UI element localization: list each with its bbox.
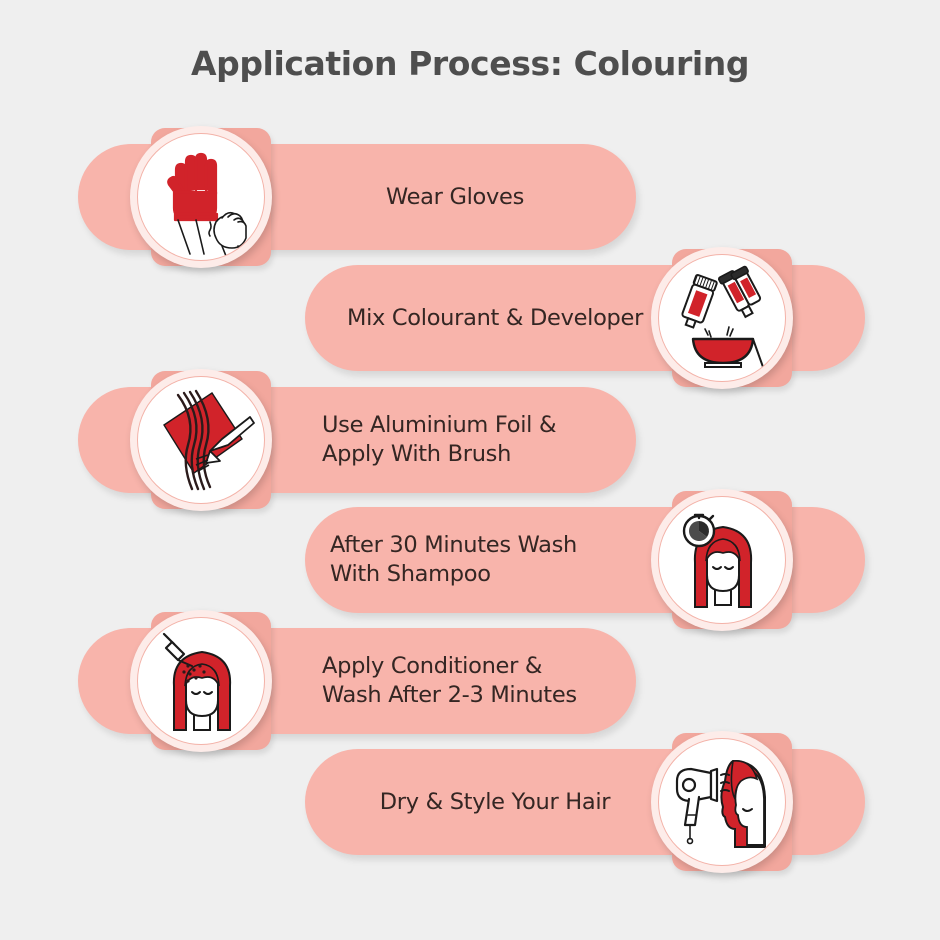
step-label-line: With Shampoo	[330, 560, 491, 589]
step-label-line: Wear Gloves	[386, 183, 524, 212]
shower-woman-icon	[137, 617, 265, 745]
process-step-6[interactable]: Dry & Style Your Hair	[0, 727, 940, 877]
step-label: Dry & Style Your Hair	[320, 749, 670, 855]
stopwatch-woman-icon	[658, 496, 786, 624]
step-label: Mix Colourant & Developer	[320, 265, 670, 371]
step-label: Apply Conditioner & Wash After 2-3 Minut…	[322, 628, 622, 734]
step-label-line: After 30 Minutes Wash	[330, 531, 577, 560]
step-label-line: Mix Colourant & Developer	[347, 304, 643, 333]
foil-and-brush-icon	[137, 376, 265, 504]
step-badge[interactable]	[130, 369, 272, 511]
step-badge[interactable]	[651, 489, 793, 631]
infographic-canvas: Application Process: Colouring	[0, 0, 940, 940]
step-label: Use Aluminium Foil & Apply With Brush	[322, 387, 622, 493]
hairdryer-woman-icon	[658, 738, 786, 866]
step-badge[interactable]	[130, 126, 272, 268]
step-label-line: Wash After 2-3 Minutes	[322, 681, 577, 710]
step-label-line: Apply Conditioner &	[322, 652, 542, 681]
step-badge[interactable]	[651, 247, 793, 389]
step-label-line: Dry & Style Your Hair	[380, 788, 611, 817]
page-title: Application Process: Colouring	[0, 44, 940, 83]
step-label: Wear Gloves	[290, 144, 620, 250]
step-badge[interactable]	[651, 731, 793, 873]
step-label-line: Use Aluminium Foil &	[322, 411, 556, 440]
step-label-line: Apply With Brush	[322, 440, 511, 469]
gloved-hand-icon	[137, 133, 265, 261]
step-badge[interactable]	[130, 610, 272, 752]
mixing-bowl-tube-bottle-icon	[658, 254, 786, 382]
step-label: After 30 Minutes Wash With Shampoo	[330, 507, 660, 613]
